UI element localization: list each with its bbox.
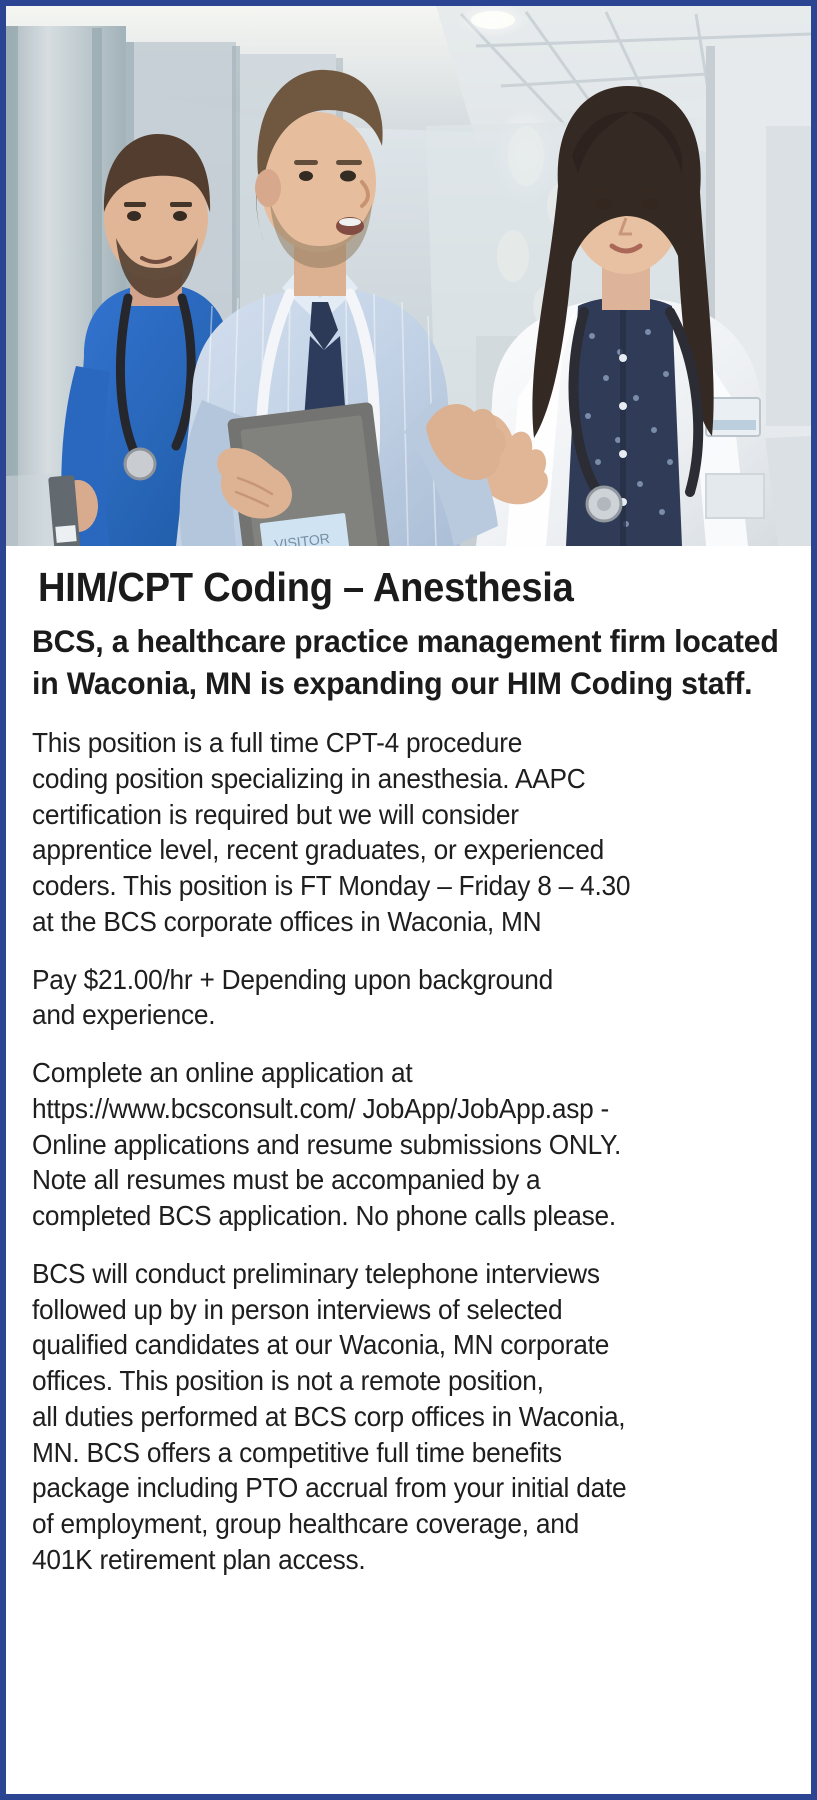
text-line: package including PTO accrual from your … [32,1470,783,1506]
text-line: coding position specializing in anesthes… [32,761,783,797]
application-url[interactable]: https://www.bcsconsult.com/ JobApp/JobAp… [32,1091,783,1127]
hospital-corridor-illustration: VISITOR [6,6,811,546]
text-line: followed up by in person interviews of s… [32,1292,783,1328]
text-line: completed BCS application. No phone call… [32,1198,783,1234]
paragraph-position-details: This position is a full time CPT-4 proce… [32,725,783,940]
hero-photo: VISITOR [6,6,811,546]
text-line: 401K retirement plan access. [32,1542,783,1578]
text-line: all duties performed at BCS corp offices… [32,1399,783,1435]
text-line: Online applications and resume submissio… [32,1127,783,1163]
paragraph-pay: Pay $21.00/hr + Depending upon backgroun… [32,962,783,1034]
text-line: This position is a full time CPT-4 proce… [32,725,783,761]
text-line: certification is required but we will co… [32,797,783,833]
paragraph-how-to-apply: Complete an online application at https:… [32,1055,783,1234]
ad-text-content: HIM/CPT Coding – Anesthesia BCS, a healt… [6,546,811,1578]
text-line: offices. This position is not a remote p… [32,1363,783,1399]
text-line: at the BCS corporate offices in Waconia,… [32,904,783,940]
text-line: MN. BCS offers a competitive full time b… [32,1435,783,1471]
paragraph-interview-and-benefits: BCS will conduct preliminary telephone i… [32,1256,783,1578]
job-advertisement: VISITOR HIM/CPT Coding – Anesthesia BCS,… [0,0,817,1800]
company-intro: BCS, a healthcare practice management fi… [32,621,784,705]
job-title: HIM/CPT Coding – Anesthesia [38,566,733,609]
text-line: and experience. [32,997,783,1033]
text-line: Note all resumes must be accompanied by … [32,1162,783,1198]
text-line: qualified candidates at our Waconia, MN … [32,1327,783,1363]
text-line: apprentice level, recent graduates, or e… [32,832,783,868]
text-line: BCS will conduct preliminary telephone i… [32,1256,783,1292]
text-line: coders. This position is FT Monday – Fri… [32,868,783,904]
text-line: of employment, group healthcare coverage… [32,1506,783,1542]
text-line: Complete an online application at [32,1055,783,1091]
text-line: Pay $21.00/hr + Depending upon backgroun… [32,962,783,998]
